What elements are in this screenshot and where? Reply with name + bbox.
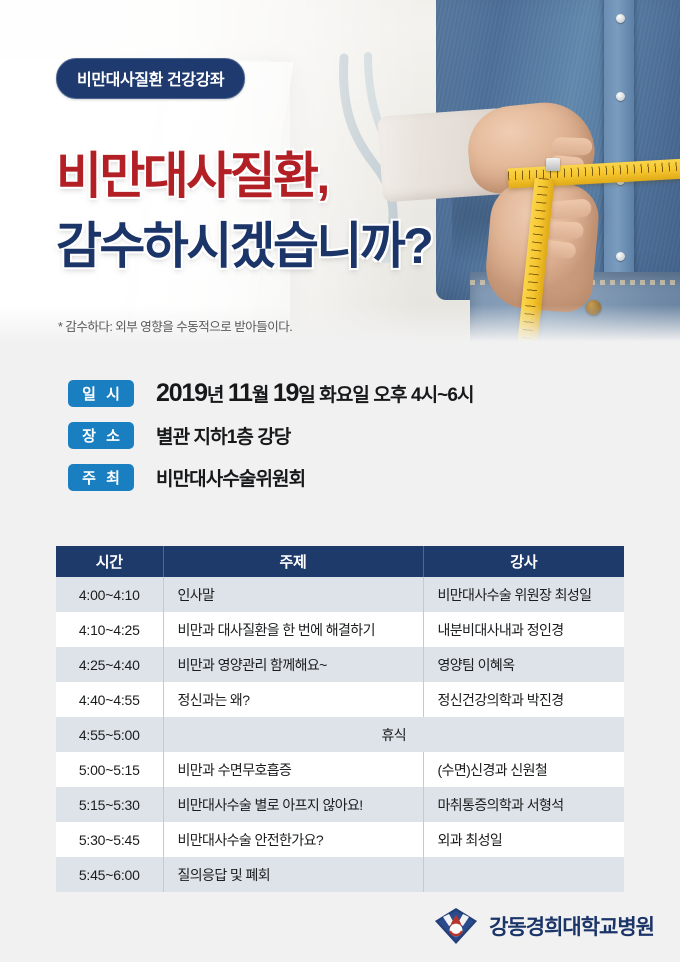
- date-weekday: 화요일: [319, 385, 369, 406]
- shirt-button-icon: [616, 14, 625, 23]
- hospital-logo: 강동경희대학교병원: [433, 906, 654, 946]
- cell-time: 5:15~5:30: [56, 787, 163, 822]
- info-value-host: 비만대사수술위원회: [156, 464, 305, 491]
- poster-title-line1: 비만대사질환,: [56, 136, 328, 208]
- cell-time: 5:00~5:15: [56, 752, 163, 787]
- info-value-venue: 별관 지하1층 강당: [156, 422, 291, 449]
- poster-title-line2: 감수하시겠습니까?: [56, 206, 431, 278]
- shirt-button-icon: [616, 92, 625, 101]
- date-year: 2019: [156, 379, 207, 407]
- column-header-topic: 주제: [163, 546, 423, 577]
- cell-time: 4:25~4:40: [56, 647, 163, 682]
- cell-topic: 비만과 수면무호흡증: [163, 752, 423, 787]
- column-header-speaker: 강사: [423, 546, 624, 577]
- schedule-row: 5:45~6:00질의응답 및 폐회: [56, 857, 624, 892]
- cell-topic: 비만대사수술 별로 아프지 않아요!: [163, 787, 423, 822]
- cell-topic: 비만과 대사질환을 한 번에 해결하기: [163, 612, 423, 647]
- date-day-unit: 일: [298, 385, 315, 406]
- cell-time: 4:10~4:25: [56, 612, 163, 647]
- cell-speaker: 내분비대사내과 정인경: [423, 612, 624, 647]
- cell-speaker: (수면)신경과 신원철: [423, 752, 624, 787]
- schedule-row: 4:00~4:10인사말비만대사수술 위원장 최성일: [56, 577, 624, 612]
- event-info-list: 일 시 2019년 11월 19일 화요일 오후 4시~6시 장 소 별관 지하…: [0, 372, 680, 498]
- tape-measure-clip: [546, 158, 560, 171]
- cell-time: 5:30~5:45: [56, 822, 163, 857]
- cell-speaker: [423, 857, 624, 892]
- finger: [552, 137, 593, 155]
- hospital-emblem-icon: [433, 906, 479, 946]
- date-month: 11: [228, 379, 252, 407]
- poster-root: 비만대사질환 건강강좌 비만대사질환, 감수하시겠습니까? * 감수하다: 외부…: [0, 0, 680, 962]
- cell-topic: 인사말: [163, 577, 423, 612]
- schedule-row: 5:30~5:45비만대사수술 안전한가요?외과 최성일: [56, 822, 624, 857]
- cell-speaker: 정신건강의학과 박진경: [423, 682, 624, 717]
- cell-speaker: 영양팀 이혜옥: [423, 647, 624, 682]
- cell-speaker: 비만대사수술 위원장 최성일: [423, 577, 624, 612]
- cell-topic: 비만대사수술 안전한가요?: [163, 822, 423, 857]
- schedule-row: 4:25~4:40비만과 영양관리 함께해요~영양팀 이혜옥: [56, 647, 624, 682]
- schedule-row: 5:00~5:15비만과 수면무호흡증(수면)신경과 신원철: [56, 752, 624, 787]
- cell-topic: 질의응답 및 폐회: [163, 857, 423, 892]
- info-label-datetime: 일 시: [68, 380, 134, 407]
- cell-time: 5:45~6:00: [56, 857, 163, 892]
- schedule-body: 4:00~4:10인사말비만대사수술 위원장 최성일4:10~4:25비만과 대…: [56, 577, 624, 892]
- cell-break: 휴식: [163, 717, 624, 752]
- schedule-header-row: 시간 주제 강사: [56, 546, 624, 577]
- column-header-time: 시간: [56, 546, 163, 577]
- info-label-host: 주 최: [68, 464, 134, 491]
- cell-speaker: 마취통증의학과 서형석: [423, 787, 624, 822]
- cell-time: 4:00~4:10: [56, 577, 163, 612]
- info-row-host: 주 최 비만대사수술위원회: [0, 456, 680, 498]
- info-row-venue: 장 소 별관 지하1층 강당: [0, 414, 680, 456]
- cell-speaker: 외과 최성일: [423, 822, 624, 857]
- jeans-button-icon: [586, 300, 601, 315]
- date-year-unit: 년: [207, 385, 224, 406]
- info-label-venue: 장 소: [68, 422, 134, 449]
- cell-topic: 비만과 영양관리 함께해요~: [163, 647, 423, 682]
- info-row-datetime: 일 시 2019년 11월 19일 화요일 오후 4시~6시: [0, 372, 680, 414]
- date-ampm: 오후: [373, 385, 406, 406]
- cell-time: 4:40~4:55: [56, 682, 163, 717]
- cell-topic: 정신과는 왜?: [163, 682, 423, 717]
- schedule-row: 5:15~5:30비만대사수술 별로 아프지 않아요!마취통증의학과 서형석: [56, 787, 624, 822]
- date-day: 19: [273, 379, 298, 407]
- schedule-row: 4:40~4:55정신과는 왜?정신건강의학과 박진경: [56, 682, 624, 717]
- hero-section: 비만대사질환 건강강좌 비만대사질환, 감수하시겠습니까? * 감수하다: 외부…: [0, 0, 680, 345]
- schedule-table: 시간 주제 강사 4:00~4:10인사말비만대사수술 위원장 최성일4:10~…: [56, 546, 624, 892]
- date-time-range: 4시~6시: [411, 385, 474, 406]
- title-footnote: * 감수하다: 외부 영향을 수동적으로 받아들이다.: [58, 316, 292, 335]
- hospital-name: 강동경희대학교병원: [489, 911, 654, 941]
- finger: [547, 198, 592, 220]
- schedule-row: 4:55~5:00휴식: [56, 717, 624, 752]
- info-value-datetime: 2019년 11월 19일 화요일 오후 4시~6시: [156, 379, 474, 408]
- date-month-unit: 월: [252, 385, 269, 406]
- cell-time: 4:55~5:00: [56, 717, 163, 752]
- course-badge: 비만대사질환 건강강좌: [56, 58, 245, 99]
- schedule-row: 4:10~4:25비만과 대사질환을 한 번에 해결하기내분비대사내과 정인경: [56, 612, 624, 647]
